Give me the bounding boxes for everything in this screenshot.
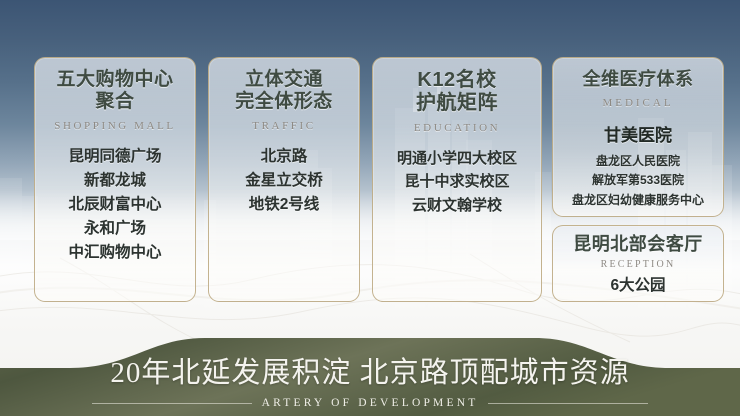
card-subtitle: MEDICAL: [553, 97, 723, 109]
card-item-list: 明通小学四大校区 昆十中求实校区 云财文翰学校: [373, 147, 541, 217]
card-reception[interactable]: 昆明北部会客厅 RECEPTION 6大公园: [552, 225, 724, 302]
list-item: 永和广场: [35, 217, 195, 241]
card-item-list: 昆明同德广场 新都龙城 北辰财富中心 永和广场 中汇购物中心: [35, 145, 195, 265]
list-item: 金星立交桥: [209, 169, 359, 193]
list-item: 解放军第533医院: [553, 171, 723, 190]
list-item: 新都龙城: [35, 169, 195, 193]
card-title-line: 立体交通: [209, 69, 359, 91]
card-item-list: 6大公园: [553, 274, 723, 298]
list-item: 北辰财富中心: [35, 193, 195, 217]
card-title-line: 五大购物中心: [35, 69, 195, 91]
card-lead-item: 甘美医院: [553, 121, 723, 146]
card-title-line: 聚合: [35, 91, 195, 113]
list-item: 昆十中求实校区: [373, 170, 541, 193]
list-item: 盘龙区妇幼健康服务中心: [553, 191, 723, 210]
card-subtitle: EDUCATION: [373, 122, 541, 134]
banner-headline: 20年北延发展积淀 北京路顶配城市资源: [110, 349, 629, 391]
card-subtitle: RECEPTION: [553, 259, 723, 270]
list-item: 云财文翰学校: [373, 194, 541, 217]
list-item: 6大公园: [553, 274, 723, 298]
banner-subline: ARTERY OF DEVELOPMENT: [252, 397, 489, 409]
card-medical[interactable]: 全维医疗体系 MEDICAL 甘美医院 盘龙区人民医院 解放军第533医院 盘龙…: [552, 57, 724, 217]
banner-rule-right: [488, 403, 648, 404]
card-title: 昆明北部会客厅: [553, 234, 723, 255]
list-item: 明通小学四大校区: [373, 147, 541, 170]
card-subtitle: TRAFFIC: [209, 120, 359, 132]
card-item-list: 盘龙区人民医院 解放军第533医院 盘龙区妇幼健康服务中心: [553, 152, 723, 210]
list-item: 地铁2号线: [209, 193, 359, 217]
bottom-banner: 20年北延发展积淀 北京路顶配城市资源 ARTERY OF DEVELOPMEN…: [0, 338, 740, 416]
card-title: 立体交通 完全体形态: [209, 69, 359, 113]
poster-root: 五大购物中心 聚合 SHOPPING MALL 昆明同德广场 新都龙城 北辰财富…: [0, 0, 740, 416]
card-traffic[interactable]: 立体交通 完全体形态 TRAFFIC 北京路 金星立交桥 地铁2号线: [208, 57, 360, 302]
card-title-line: 护航矩阵: [373, 92, 541, 115]
feature-card-grid: 五大购物中心 聚合 SHOPPING MALL 昆明同德广场 新都龙城 北辰财富…: [0, 0, 740, 330]
list-item: 中汇购物中心: [35, 241, 195, 265]
card-shopping-mall[interactable]: 五大购物中心 聚合 SHOPPING MALL 昆明同德广场 新都龙城 北辰财富…: [34, 57, 196, 302]
card-title: 全维医疗体系: [553, 69, 723, 90]
card-subtitle: SHOPPING MALL: [35, 120, 195, 132]
list-item: 盘龙区人民医院: [553, 152, 723, 171]
card-title: K12名校 护航矩阵: [373, 69, 541, 115]
list-item: 北京路: [209, 145, 359, 169]
banner-subline-row: ARTERY OF DEVELOPMENT: [0, 397, 740, 409]
card-education[interactable]: K12名校 护航矩阵 EDUCATION 明通小学四大校区 昆十中求实校区 云财…: [372, 57, 542, 302]
card-title-line: 全维医疗体系: [553, 69, 723, 90]
banner-text-block: 20年北延发展积淀 北京路顶配城市资源 ARTERY OF DEVELOPMEN…: [0, 338, 740, 416]
card-title: 五大购物中心 聚合: [35, 69, 195, 113]
card-title-line: K12名校: [373, 69, 541, 92]
banner-rule-left: [92, 403, 252, 404]
card-title-line: 完全体形态: [209, 91, 359, 113]
list-item: 昆明同德广场: [35, 145, 195, 169]
card-item-list: 北京路 金星立交桥 地铁2号线: [209, 145, 359, 217]
card-title-line: 昆明北部会客厅: [553, 234, 723, 255]
